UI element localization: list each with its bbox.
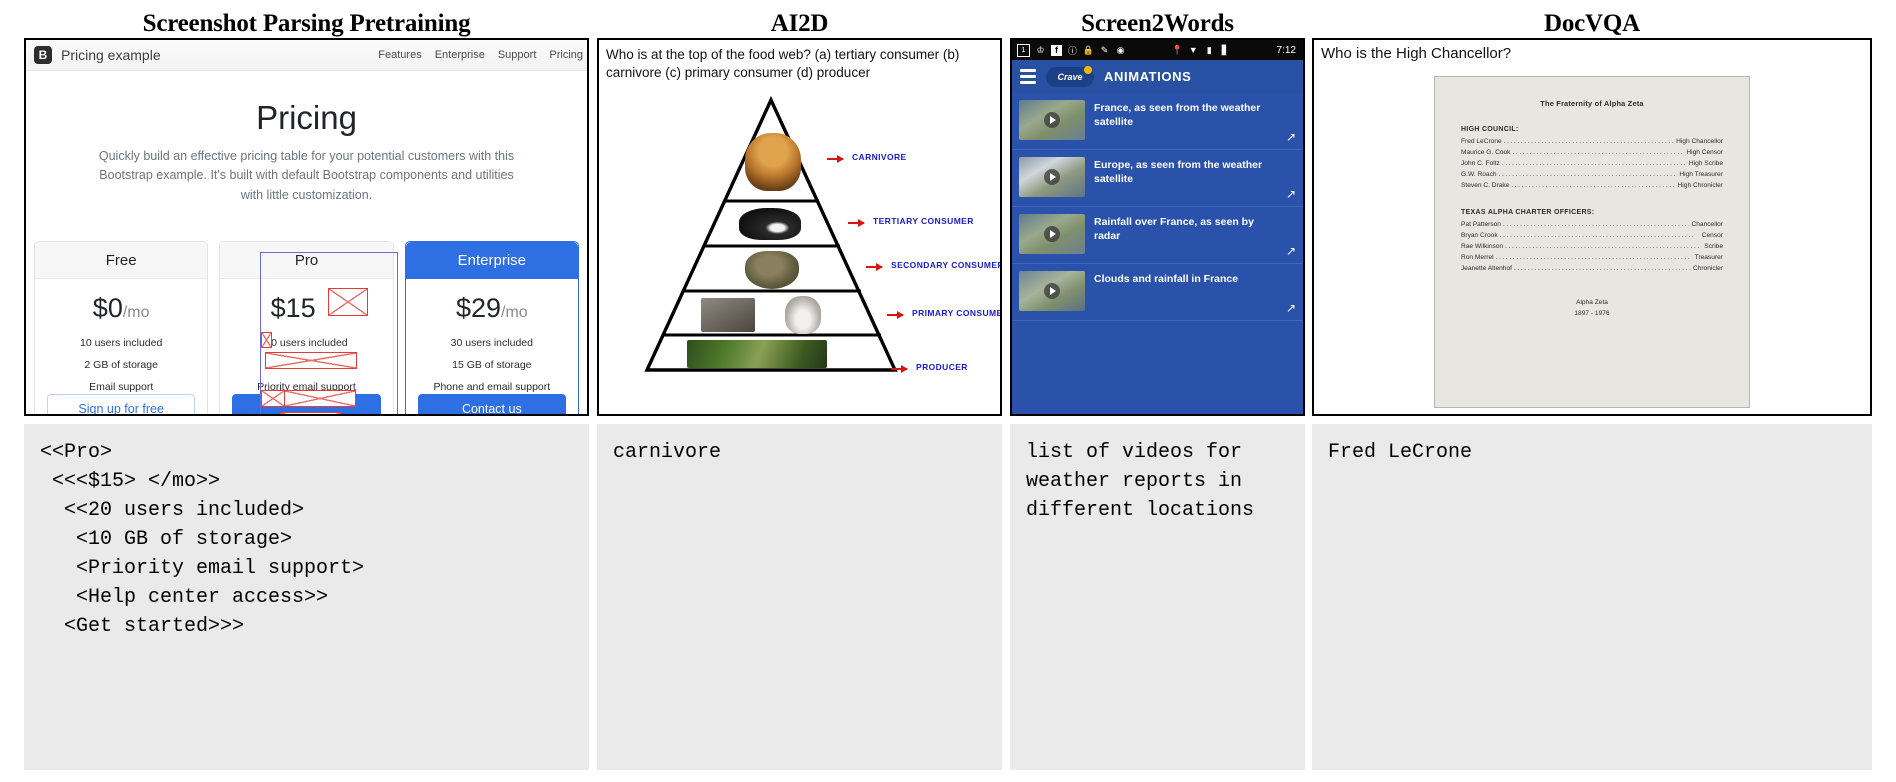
footer-line-1: Alpha Zeta — [1461, 298, 1723, 309]
lion-image — [745, 133, 801, 191]
document-row: Ron Merrel .............................… — [1461, 254, 1723, 261]
person-name: Steven C. Drake — [1461, 182, 1509, 189]
leader-dots: ........................................… — [1499, 171, 1678, 178]
document-row: Bryan Crook ............................… — [1461, 232, 1723, 239]
leader-dots: ........................................… — [1500, 232, 1700, 239]
person-role: Chronicler — [1693, 265, 1723, 272]
column-title-docvqa: DocVQA — [1312, 10, 1872, 38]
leader-dots: ........................................… — [1514, 265, 1691, 272]
signal-icon: ▮ — [1204, 45, 1215, 56]
leader-dots: ........................................… — [1496, 254, 1693, 261]
person-name: Ron Merrel — [1461, 254, 1494, 261]
list-item-label: Rainfall over France, as seen by radar — [1094, 214, 1295, 243]
sim-icon: 1 — [1017, 44, 1030, 57]
person-role: High Scribe — [1689, 160, 1723, 167]
mask-price-unit — [328, 288, 368, 316]
document-section-heading: HIGH COUNCIL: — [1461, 126, 1723, 133]
hamburger-menu-icon[interactable] — [1020, 69, 1036, 84]
bootstrap-logo-icon: B — [34, 46, 52, 64]
price-amount: $29 — [456, 293, 501, 323]
mouse-image — [701, 298, 755, 332]
column-title-screen2words: Screen2Words — [1010, 10, 1305, 38]
app-logo: Crave — [1046, 67, 1094, 87]
wifi-icon: ▼ — [1188, 45, 1199, 56]
note-icon: ✎ — [1099, 45, 1110, 56]
pyramid-label-carnivore: CARNIVORE — [852, 152, 907, 162]
navbar-brand[interactable]: Pricing example — [61, 47, 161, 63]
eagle-image — [739, 208, 801, 240]
list-item[interactable]: Clouds and rainfall in France ↗ — [1012, 264, 1303, 321]
person-name: Bryan Crook — [1461, 232, 1498, 239]
price-amount: $0 — [93, 293, 123, 323]
person-name: John C. Foltz — [1461, 160, 1500, 167]
card-title-pro: Pro — [220, 242, 392, 279]
share-icon[interactable]: ↗ — [1286, 187, 1296, 201]
screenshot-root: Screenshot Parsing Pretraining AI2D Scre… — [0, 0, 1896, 782]
rabbit-image — [785, 296, 821, 334]
leader-dots: ........................................… — [1502, 160, 1687, 167]
page-lead: Quickly build an effective pricing table… — [97, 147, 517, 205]
mask-cta-label — [280, 412, 342, 416]
leader-dots: ........................................… — [1504, 138, 1674, 145]
leader-dots: ........................................… — [1511, 182, 1675, 189]
pricing-card-enterprise: Enterprise $29/mo 30 users included 15 G… — [405, 241, 579, 416]
location-icon: 📍 — [1172, 45, 1183, 56]
card-price-free: $0/mo — [35, 293, 207, 324]
arrow-carnivore-icon — [827, 158, 843, 160]
feature-item: 15 GB of storage — [406, 358, 578, 373]
mask-helpcenter-right — [284, 390, 356, 407]
pyramid-label-producer: PRODUCER — [916, 362, 968, 372]
share-icon[interactable]: ↗ — [1286, 130, 1296, 144]
mask-helpcenter-left — [261, 390, 285, 407]
snake-image — [745, 251, 799, 289]
card-price-enterprise: $29/mo — [406, 293, 578, 324]
person-role: High Chronicler — [1678, 182, 1723, 189]
pyramid-label-tertiary-consumer: TERTIARY CONSUMER — [873, 216, 974, 226]
output-caption-ai2d: carnivore — [597, 424, 1002, 770]
arrow-primary-icon — [887, 314, 903, 316]
screen2words-mobile-panel: 1 ♔ f ⓘ 🔒 ✎ ◉ 📍 ▼ ▮ ▋ 7:12 Crave ANIMATI… — [1010, 38, 1305, 416]
list-item-label: Clouds and rainfall in France — [1094, 271, 1264, 287]
person-name: Jeanette Altenhof — [1461, 265, 1512, 272]
output-caption-screen2words: list of videos for weather reports in di… — [1010, 424, 1305, 770]
document-section-heading: TEXAS ALPHA CHARTER OFFICERS: — [1461, 209, 1723, 216]
leader-dots: ........................................… — [1503, 221, 1690, 228]
navbar-links: Features Enterprise Support Pricing — [378, 49, 583, 61]
document-row: Fred LeCrone ...........................… — [1461, 138, 1723, 145]
nav-link-features[interactable]: Features — [378, 49, 421, 61]
document-row: Maurice G. Cook ........................… — [1461, 149, 1723, 156]
share-icon[interactable]: ↗ — [1286, 301, 1296, 315]
food-pyramid: CARNIVORE TERTIARY CONSUMER SECONDARY CO… — [599, 88, 1000, 414]
document-row: Pat Patterson ..........................… — [1461, 221, 1723, 228]
person-name: G.W. Roach — [1461, 171, 1497, 178]
site-navbar: B Pricing example Features Enterprise Su… — [26, 40, 587, 71]
nav-link-support[interactable]: Support — [498, 49, 537, 61]
mobile-status-bar: 1 ♔ f ⓘ 🔒 ✎ ◉ 📍 ▼ ▮ ▋ 7:12 — [1012, 40, 1303, 60]
battery-icon: ▋ — [1220, 45, 1231, 56]
mask-storage-feature — [265, 352, 357, 369]
pricing-card-pro: Pro $15/mo 20 users included 10 GB of st… — [219, 241, 393, 416]
lock-icon: 🔒 — [1083, 45, 1094, 56]
person-role: High Censor — [1686, 149, 1723, 156]
docvqa-question: Who is the High Chancellor? — [1314, 40, 1870, 66]
document-title: The Fraternity of Alpha Zeta — [1461, 99, 1723, 108]
mask-users-digit — [261, 332, 272, 348]
person-role: Treasurer — [1695, 254, 1723, 261]
price-unit: /mo — [123, 304, 150, 321]
document-row: Jeanette Altenhof ......................… — [1461, 265, 1723, 272]
price-unit: /mo — [501, 304, 528, 321]
arrow-secondary-icon — [866, 266, 882, 268]
column-title-screenshot-parsing: Screenshot Parsing Pretraining — [24, 10, 589, 38]
person-role: Chancellor — [1691, 221, 1723, 228]
crown-icon: ♔ — [1035, 45, 1046, 56]
share-icon[interactable]: ↗ — [1286, 244, 1296, 258]
feature-item: 20 users included — [220, 336, 392, 351]
play-icon[interactable] — [1044, 283, 1060, 299]
pricing-page-body: Pricing Quickly build an effective prici… — [26, 71, 587, 414]
video-thumbnail[interactable] — [1019, 100, 1085, 140]
document-row: Rae Wilkinson ..........................… — [1461, 243, 1723, 250]
nav-link-pricing[interactable]: Pricing — [549, 49, 583, 61]
list-item[interactable]: Rainfall over France, as seen by radar ↗ — [1012, 207, 1303, 264]
pyramid-label-primary-consumer: PRIMARY CONSUMER — [912, 308, 1002, 318]
feature-item: 10 users included — [35, 336, 207, 351]
person-role: Censor — [1702, 232, 1723, 239]
logo-dot-icon — [1084, 66, 1092, 74]
document-row: Steven C. Drake ........................… — [1461, 182, 1723, 189]
feature-item: 30 users included — [406, 336, 578, 351]
list-item-label: Europe, as seen from the weather satelli… — [1094, 157, 1295, 186]
plants-image — [687, 340, 827, 368]
app-bar-title: ANIMATIONS — [1104, 69, 1191, 84]
person-name: Pat Patterson — [1461, 221, 1501, 228]
video-list: France, as seen from the weather satelli… — [1012, 93, 1303, 414]
document-row: G.W. Roach .............................… — [1461, 171, 1723, 178]
bootstrap-pricing-screenshot: B Pricing example Features Enterprise Su… — [24, 38, 589, 416]
ai2d-question: Who is at the top of the food web? (a) t… — [599, 40, 1000, 86]
list-item-label: France, as seen from the weather satelli… — [1094, 100, 1295, 129]
docvqa-panel: Who is the High Chancellor? The Fraterni… — [1312, 38, 1872, 416]
play-icon[interactable] — [1044, 169, 1060, 185]
app-logo-label: Crave — [1057, 72, 1082, 82]
footer-line-2: 1897 - 1976 — [1461, 309, 1723, 320]
play-icon[interactable] — [1044, 112, 1060, 128]
leader-dots: ........................................… — [1512, 149, 1684, 156]
person-name: Rae Wilkinson — [1461, 243, 1503, 250]
person-role: High Treasurer — [1679, 171, 1723, 178]
video-thumbnail[interactable] — [1019, 271, 1085, 311]
pyramid-label-secondary-consumer: SECONDARY CONSUMER — [891, 260, 1002, 270]
ai2d-diagram-panel: Who is at the top of the food web? (a) t… — [597, 38, 1002, 416]
arrow-producer-icon — [891, 368, 907, 370]
page-title: Pricing — [26, 99, 587, 137]
person-name: Maurice G. Cook — [1461, 149, 1510, 156]
list-item[interactable]: Europe, as seen from the weather satelli… — [1012, 150, 1303, 207]
play-icon[interactable] — [1044, 226, 1060, 242]
android-icon: ◉ — [1115, 45, 1126, 56]
card-title-enterprise: Enterprise — [406, 242, 578, 279]
output-caption-screenshot-parsing: <<Pro> <<<$15> </mo>> <<20 users include… — [24, 424, 589, 770]
pricing-cards: Free $0/mo 10 users included 2 GB of sto… — [34, 241, 579, 416]
document-row: John C. Foltz ..........................… — [1461, 160, 1723, 167]
price-amount: $15 — [271, 293, 316, 323]
output-caption-docvqa: Fred LeCrone — [1312, 424, 1872, 770]
document-footer: Alpha Zeta 1897 - 1976 — [1461, 298, 1723, 319]
person-name: Fred LeCrone — [1461, 138, 1502, 145]
status-time: 7:12 — [1277, 45, 1298, 56]
list-item[interactable]: France, as seen from the weather satelli… — [1012, 93, 1303, 150]
mobile-app-bar: Crave ANIMATIONS — [1012, 60, 1303, 93]
feature-item: 2 GB of storage — [35, 358, 207, 373]
video-thumbnail[interactable] — [1019, 157, 1085, 197]
info-icon: ⓘ — [1067, 45, 1078, 56]
arrow-tertiary-icon — [848, 222, 864, 224]
document-page: The Fraternity of Alpha Zeta HIGH COUNCI… — [1434, 76, 1750, 408]
video-thumbnail[interactable] — [1019, 214, 1085, 254]
pricing-card-free: Free $0/mo 10 users included 2 GB of sto… — [34, 241, 208, 416]
person-role: Scribe — [1704, 243, 1723, 250]
card-title-free: Free — [35, 242, 207, 279]
cta-button-free[interactable]: Sign up for free — [47, 394, 195, 416]
leader-dots: ........................................… — [1505, 243, 1702, 250]
person-role: High Chancellor — [1676, 138, 1723, 145]
column-title-ai2d: AI2D — [597, 10, 1002, 38]
nav-link-enterprise[interactable]: Enterprise — [435, 49, 485, 61]
cta-button-enterprise[interactable]: Contact us — [418, 394, 566, 416]
facebook-icon: f — [1051, 45, 1062, 56]
